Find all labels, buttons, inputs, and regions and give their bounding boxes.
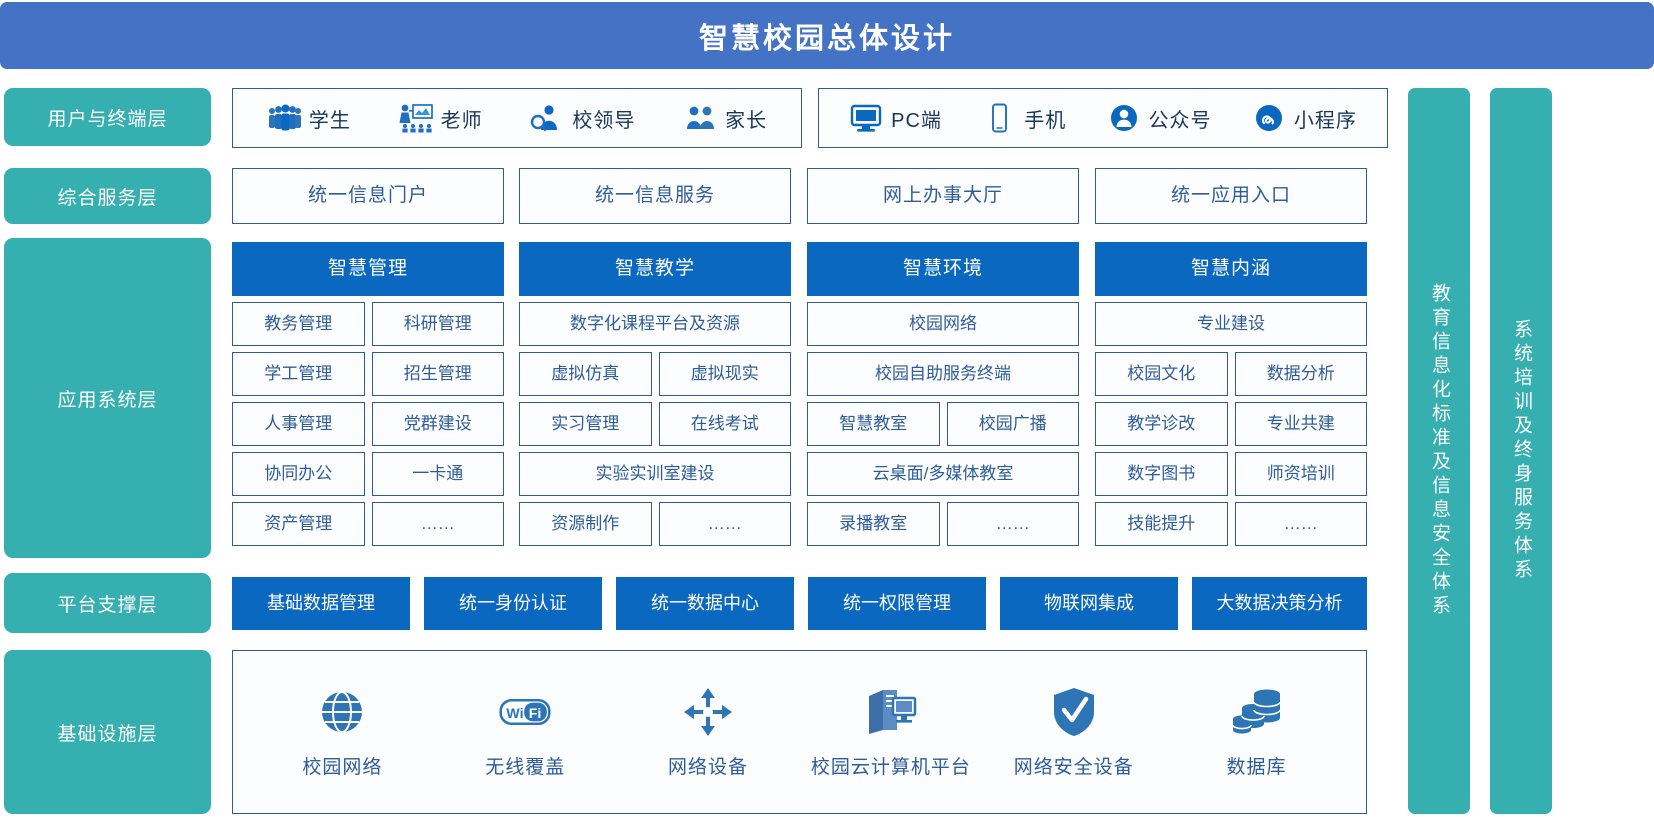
infrastructure-item-network-device[interactable]: 网络设备: [628, 686, 788, 779]
application-row: 实验实训室建设: [519, 452, 791, 496]
sidebar-layer-label: 平台支撑层: [57, 590, 157, 617]
sidebar-layer-label: 应用系统层: [57, 385, 157, 412]
application-cell[interactable]: 数字化课程平台及资源: [519, 302, 791, 346]
application-cell[interactable]: 云桌面/多媒体教室: [807, 452, 1079, 496]
sidebar-layer-label: 基础设施层: [57, 719, 157, 746]
svg-text:Fi: Fi: [529, 705, 542, 721]
pillar-training-service: 系统培训及终身服务体系: [1490, 88, 1552, 814]
application-cell[interactable]: 招生管理: [372, 352, 505, 396]
teacher-board-icon: [399, 103, 433, 133]
application-cell[interactable]: 录播教室: [807, 502, 940, 546]
application-column-environment: 智慧环境 校园网络 校园自助服务终端 智慧教室 校园广播 云桌面/多媒体教室 录…: [807, 242, 1079, 552]
application-row: 协同办公 一卡通: [232, 452, 504, 496]
application-row: 资源制作 ……: [519, 502, 791, 546]
wifi-icon: Wi Fi: [499, 686, 551, 738]
mobile-phone-icon: [982, 103, 1016, 133]
infrastructure-label: 无线覆盖: [485, 752, 565, 779]
platform-item-data-center[interactable]: 统一数据中心: [616, 577, 794, 630]
terminal-label: 小程序: [1294, 104, 1357, 133]
user-role-label: 家长: [725, 104, 767, 133]
platform-item-iot[interactable]: 物联网集成: [1000, 577, 1178, 630]
infrastructure-label: 网络设备: [668, 752, 748, 779]
application-column-header: 智慧教学: [519, 242, 791, 296]
application-cell[interactable]: 校园广播: [947, 402, 1080, 446]
application-cell[interactable]: 技能提升: [1095, 502, 1228, 546]
pillar-standards-security: 教育信息化标准及信息安全体系: [1408, 88, 1470, 814]
application-row: 数字化课程平台及资源: [519, 302, 791, 346]
service-label: 统一信息门户: [308, 186, 428, 207]
application-cell[interactable]: 虚拟仿真: [519, 352, 652, 396]
platform-label: 物联网集成: [1044, 594, 1134, 614]
user-role-parent[interactable]: 家长: [683, 103, 767, 133]
page-title-bar: 智慧校园总体设计: [0, 2, 1654, 69]
application-cell[interactable]: 一卡通: [372, 452, 505, 496]
platform-item-identity-auth[interactable]: 统一身份认证: [424, 577, 602, 630]
application-cell[interactable]: 智慧教室: [807, 402, 940, 446]
sidebar-layer-application: 应用系统层: [4, 238, 211, 558]
application-column-header-label: 智慧内涵: [1191, 259, 1271, 280]
terminal-label: 公众号: [1149, 104, 1212, 133]
application-row: 技能提升 ……: [1095, 502, 1367, 546]
infrastructure-label: 校园云计算机平台: [811, 752, 971, 779]
application-row: 校园自助服务终端: [807, 352, 1079, 396]
platform-label: 统一身份认证: [459, 594, 567, 614]
infrastructure-item-cloud-platform[interactable]: 校园云计算机平台: [811, 686, 971, 779]
infrastructure-item-wireless[interactable]: Wi Fi 无线覆盖: [445, 686, 605, 779]
application-column-header: 智慧内涵: [1095, 242, 1367, 296]
user-role-teacher[interactable]: 老师: [399, 103, 483, 133]
diagram-root: 智慧校园总体设计 用户与终端层 综合服务层 应用系统层 平台支撑层 基础设施层 …: [0, 0, 1654, 819]
application-row: 智慧教室 校园广播: [807, 402, 1079, 446]
application-cell[interactable]: 专业建设: [1095, 302, 1367, 346]
application-cell[interactable]: 师资培训: [1235, 452, 1368, 496]
user-roles-panel: 学生 老师: [232, 88, 802, 148]
application-row: 虚拟仿真 虚拟现实: [519, 352, 791, 396]
students-group-icon: [267, 103, 301, 133]
platform-item-big-data[interactable]: 大数据决策分析: [1192, 577, 1367, 630]
application-cell[interactable]: 人事管理: [232, 402, 365, 446]
sidebar-layer-platform: 平台支撑层: [4, 573, 211, 633]
platform-label: 基础数据管理: [267, 594, 375, 614]
service-label: 统一信息服务: [595, 186, 715, 207]
terminal-mini-program[interactable]: 小程序: [1252, 103, 1357, 133]
application-column-header: 智慧管理: [232, 242, 504, 296]
application-cell[interactable]: 校园网络: [807, 302, 1079, 346]
sidebar-layer-label: 综合服务层: [57, 183, 157, 210]
application-column-teaching: 智慧教学 数字化课程平台及资源 虚拟仿真 虚拟现实 实习管理 在线考试 实验实训…: [519, 242, 791, 552]
application-cell[interactable]: 学工管理: [232, 352, 365, 396]
terminal-official-account[interactable]: 公众号: [1107, 103, 1212, 133]
infrastructure-item-database[interactable]: 数据库: [1177, 686, 1337, 779]
application-cell-more[interactable]: ……: [947, 502, 1080, 546]
application-row: 资产管理 ……: [232, 502, 504, 546]
application-cell[interactable]: 实习管理: [519, 402, 652, 446]
application-row: 人事管理 党群建设: [232, 402, 504, 446]
application-cell[interactable]: 专业共建: [1235, 402, 1368, 446]
shield-check-icon: [1048, 686, 1100, 738]
parents-icon: [683, 103, 717, 133]
service-label: 网上办事大厅: [883, 186, 1003, 207]
user-role-label: 校领导: [572, 104, 635, 133]
service-item-portal[interactable]: 统一信息门户: [232, 168, 504, 224]
sidebar-layer-service: 综合服务层: [4, 168, 211, 224]
pillar-label: 系统培训及终身服务体系: [1511, 319, 1531, 583]
application-row: 教学诊改 专业共建: [1095, 402, 1367, 446]
application-cell[interactable]: 在线考试: [659, 402, 792, 446]
application-column-header-label: 智慧教学: [615, 259, 695, 280]
application-column-management: 智慧管理 教务管理 科研管理 学工管理 招生管理 人事管理 党群建设 协同办公 …: [232, 242, 504, 552]
application-row: 专业建设: [1095, 302, 1367, 346]
sidebar-layer-user-terminal: 用户与终端层: [4, 88, 211, 146]
terminal-label: 手机: [1024, 104, 1066, 133]
application-column-header: 智慧环境: [807, 242, 1079, 296]
terminals-panel: PC端 手机 公众号: [818, 88, 1388, 148]
terminal-label: PC端: [891, 104, 942, 133]
network-device-icon: [682, 686, 734, 738]
application-cell[interactable]: 教学诊改: [1095, 402, 1228, 446]
application-row: 数字图书 师资培训: [1095, 452, 1367, 496]
application-row: 教务管理 科研管理: [232, 302, 504, 346]
application-row: 云桌面/多媒体教室: [807, 452, 1079, 496]
svg-text:Wi: Wi: [507, 705, 524, 721]
service-item-online-hall[interactable]: 网上办事大厅: [807, 168, 1079, 224]
infrastructure-label: 校园网络: [302, 752, 382, 779]
application-cell[interactable]: 协同办公: [232, 452, 365, 496]
platform-label: 统一权限管理: [843, 594, 951, 614]
user-role-school-leader[interactable]: 校领导: [530, 103, 635, 133]
application-cell-more[interactable]: ……: [1235, 502, 1368, 546]
application-cell[interactable]: 虚拟现实: [659, 352, 792, 396]
application-cell[interactable]: 校园文化: [1095, 352, 1228, 396]
official-account-icon: [1107, 103, 1141, 133]
globe-icon: [316, 686, 368, 738]
application-cell-more[interactable]: ……: [659, 502, 792, 546]
terminal-mobile[interactable]: 手机: [982, 103, 1066, 133]
application-cell[interactable]: 数据分析: [1235, 352, 1368, 396]
monitor-icon: [849, 103, 883, 133]
application-row: 校园文化 数据分析: [1095, 352, 1367, 396]
sidebar-layer-infrastructure: 基础设施层: [4, 650, 211, 814]
infrastructure-panel: 校园网络 Wi Fi 无线覆盖 网络设备: [232, 650, 1367, 814]
application-cell[interactable]: 资产管理: [232, 502, 365, 546]
application-row: 校园网络: [807, 302, 1079, 346]
page-title: 智慧校园总体设计: [699, 15, 955, 57]
application-cell[interactable]: 党群建设: [372, 402, 505, 446]
infrastructure-label: 网络安全设备: [1014, 752, 1134, 779]
application-row: 录播教室 ……: [807, 502, 1079, 546]
database-icon: [1231, 686, 1283, 738]
pillar-label: 教育信息化标准及信息安全体系: [1429, 283, 1449, 619]
application-row: 学工管理 招生管理: [232, 352, 504, 396]
platform-item-base-data[interactable]: 基础数据管理: [232, 577, 410, 630]
application-cell[interactable]: 数字图书: [1095, 452, 1228, 496]
infrastructure-item-campus-network[interactable]: 校园网络: [262, 686, 422, 779]
terminal-pc[interactable]: PC端: [849, 103, 942, 133]
infrastructure-label: 数据库: [1227, 752, 1287, 779]
user-role-label: 老师: [441, 104, 483, 133]
service-item-app-entry[interactable]: 统一应用入口: [1095, 168, 1367, 224]
application-column-header-label: 智慧环境: [903, 259, 983, 280]
user-role-label: 学生: [309, 104, 351, 133]
application-cell[interactable]: 校园自助服务终端: [807, 352, 1079, 396]
platform-label: 统一数据中心: [651, 594, 759, 614]
application-cell-more[interactable]: ……: [372, 502, 505, 546]
mini-program-icon: [1252, 103, 1286, 133]
application-row: 实习管理 在线考试: [519, 402, 791, 446]
infrastructure-item-security-device[interactable]: 网络安全设备: [994, 686, 1154, 779]
sidebar-layer-label: 用户与终端层: [47, 104, 167, 131]
application-column-connotation: 智慧内涵 专业建设 校园文化 数据分析 教学诊改 专业共建 数字图书 师资培训 …: [1095, 242, 1367, 552]
service-label: 统一应用入口: [1171, 186, 1291, 207]
platform-label: 大数据决策分析: [1217, 594, 1343, 614]
server-computer-icon: [865, 686, 917, 738]
service-item-info-service[interactable]: 统一信息服务: [519, 168, 791, 224]
application-column-header-label: 智慧管理: [328, 259, 408, 280]
application-cell[interactable]: 资源制作: [519, 502, 652, 546]
user-role-student[interactable]: 学生: [267, 103, 351, 133]
application-cell[interactable]: 科研管理: [372, 302, 505, 346]
application-cell[interactable]: 实验实训室建设: [519, 452, 791, 496]
application-cell[interactable]: 教务管理: [232, 302, 365, 346]
platform-item-permission[interactable]: 统一权限管理: [808, 577, 986, 630]
school-leader-icon: [530, 103, 564, 133]
